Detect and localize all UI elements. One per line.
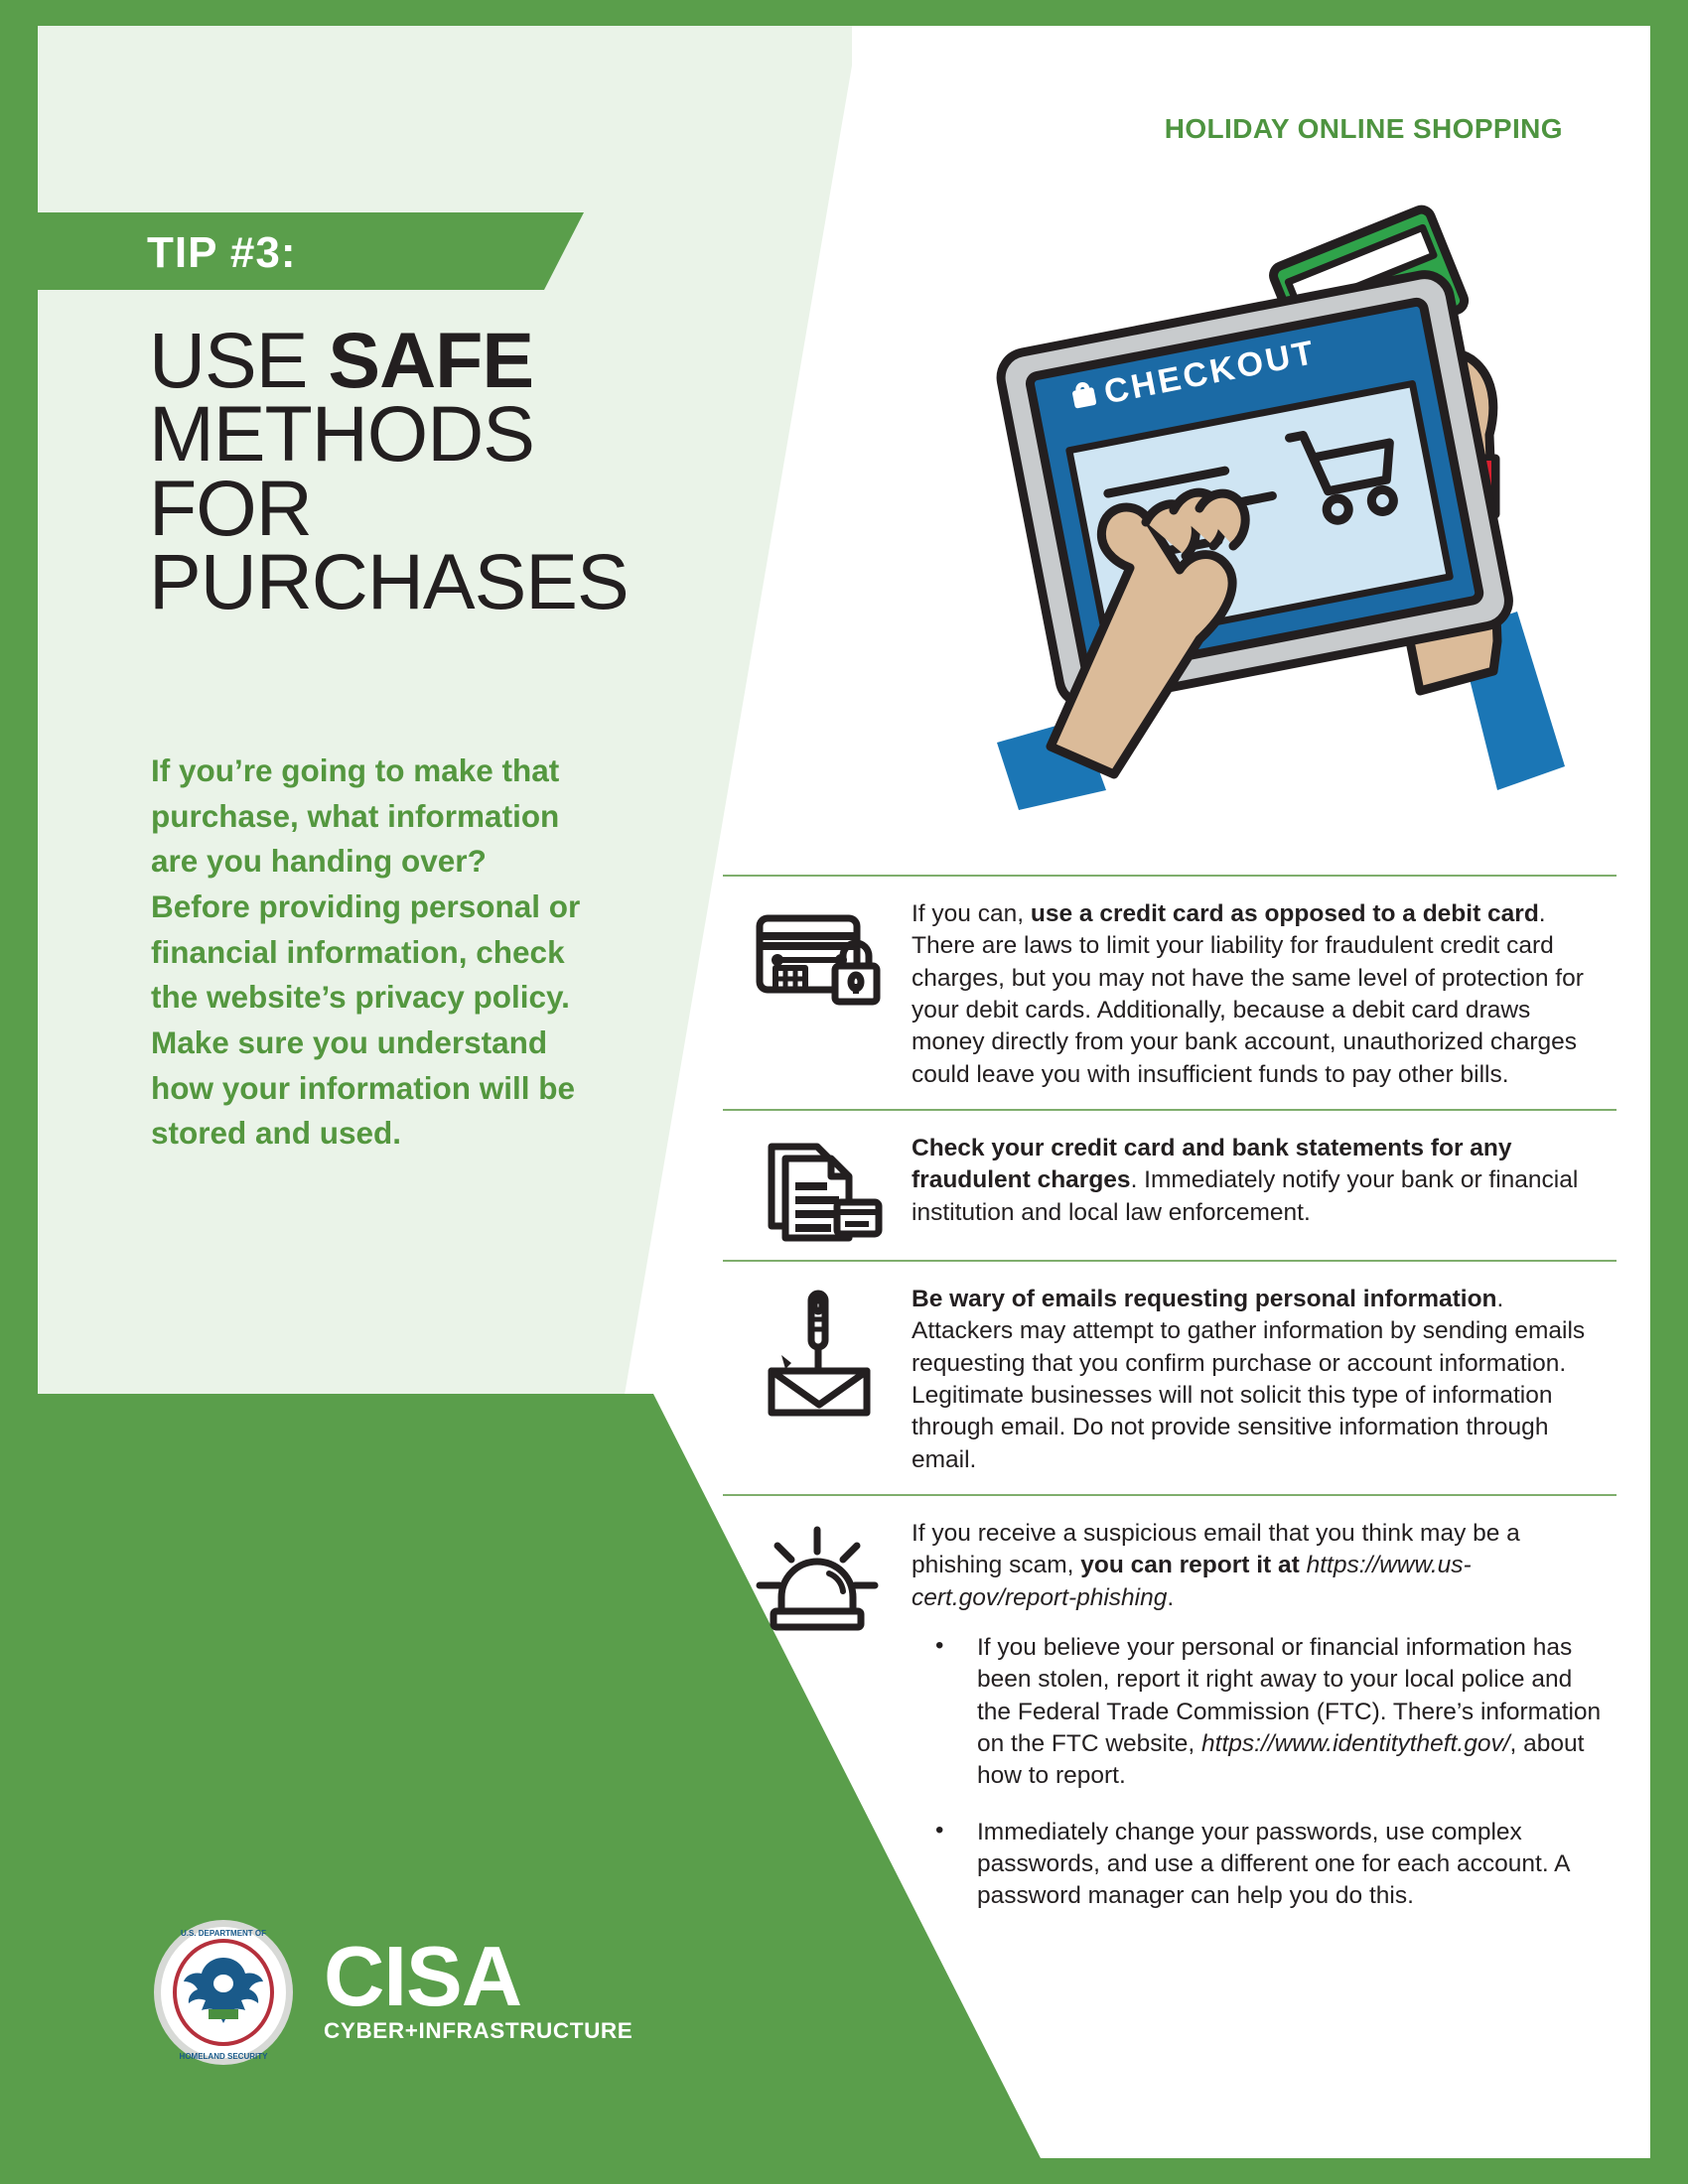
- svg-text:U.S. DEPARTMENT OF: U.S. DEPARTMENT OF: [181, 1929, 266, 1938]
- title-word-purchases: PURCHASES: [149, 537, 629, 625]
- agency-tagline: CYBER+INFRASTRUCTURE: [324, 2018, 633, 2044]
- tip-text: If you receive a suspicious email that y…: [912, 1518, 1617, 1917]
- cisa-wordmark: CISA CYBER+INFRASTRUCTURE: [324, 1941, 633, 2043]
- tip-bold: you can report it at: [1080, 1552, 1306, 1578]
- agency-name: CISA: [324, 1941, 633, 2013]
- intro-paragraph: If you’re going to make that purchase, w…: [151, 749, 588, 1157]
- tip-text: If you can, use a credit card as opposed…: [912, 898, 1617, 1091]
- tips-list: If you can, use a credit card as opposed…: [723, 875, 1617, 1935]
- list-item: If you believe your personal or financia…: [912, 1632, 1607, 1793]
- bullet-pre: Immediately change your passwords, use c…: [977, 1819, 1569, 1910]
- list-item: Immediately change your passwords, use c…: [912, 1817, 1607, 1913]
- tip-item-phishing-email: Be wary of emails requesting personal in…: [723, 1260, 1617, 1494]
- tip-bold: Be wary of emails requesting personal in…: [912, 1286, 1497, 1312]
- tip-sub-bullets: If you believe your personal or financia…: [912, 1632, 1607, 1913]
- tip-rest: . Attackers may attempt to gather inform…: [912, 1286, 1585, 1473]
- tip-text: Check your credit card and bank statemen…: [912, 1133, 1617, 1229]
- tip-number-banner: TIP #3:: [38, 212, 584, 290]
- poster-page: HOLIDAY ONLINE SHOPPING TIP #3: USE SAFE…: [0, 0, 1688, 2184]
- checkout-illustration: CHECKOUT: [902, 175, 1597, 810]
- tip-rest: .: [1167, 1584, 1174, 1611]
- dhs-seal-icon: U.S. DEPARTMENT OF HOMELAND SECURITY: [149, 1918, 298, 2067]
- tip-item-report-phishing: If you receive a suspicious email that y…: [723, 1494, 1617, 1935]
- tip-rest: . There are laws to limit your liability…: [912, 900, 1584, 1088]
- tip-text: Be wary of emails requesting personal in…: [912, 1284, 1617, 1476]
- credit-card-lock-icon: [723, 898, 912, 1008]
- footer-branding: U.S. DEPARTMENT OF HOMELAND SECURITY CIS…: [149, 1918, 633, 2067]
- tip-lead: If you can,: [912, 900, 1031, 927]
- poster-sheet: HOLIDAY ONLINE SHOPPING TIP #3: USE SAFE…: [38, 26, 1650, 2158]
- tip-item-credit-card: If you can, use a credit card as opposed…: [723, 875, 1617, 1109]
- tip-item-statements: Check your credit card and bank statemen…: [723, 1109, 1617, 1260]
- alarm-siren-icon: [723, 1518, 912, 1639]
- identitytheft-url[interactable]: https://www.identitytheft.gov/: [1201, 1730, 1510, 1757]
- page-kicker: HOLIDAY ONLINE SHOPPING: [1165, 113, 1563, 145]
- statement-documents-icon: [723, 1133, 912, 1242]
- tip-number-label: TIP #3:: [147, 228, 296, 278]
- tip-bold: use a credit card as opposed to a debit …: [1031, 900, 1539, 927]
- svg-text:HOMELAND SECURITY: HOMELAND SECURITY: [180, 2052, 269, 2061]
- page-title: USE SAFE METHODS FOR PURCHASES: [149, 324, 665, 618]
- phishing-email-icon: [723, 1284, 912, 1417]
